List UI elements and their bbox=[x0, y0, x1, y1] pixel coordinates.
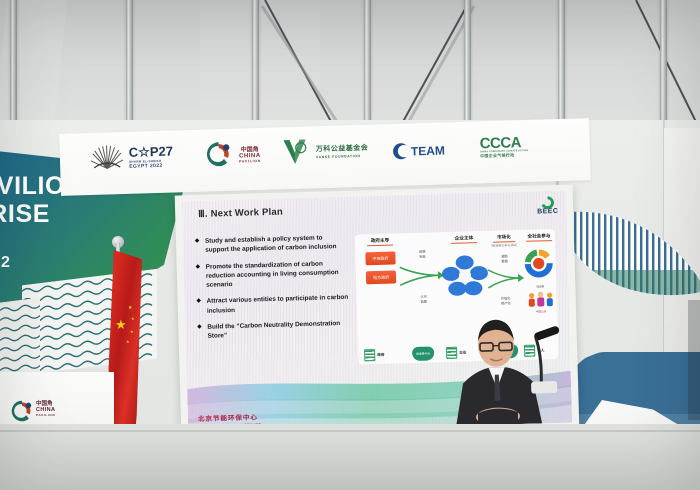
logo-china-pavilion: 中国角 CHINA PAVILION bbox=[204, 139, 261, 169]
podium-logo-cn: 中国角 bbox=[36, 399, 55, 407]
vanke-en: VANKE FOUNDATION bbox=[316, 153, 369, 159]
cop27-sunburst-icon bbox=[89, 142, 124, 175]
podium-china-pavilion-logo: 中国角 CHINA PAVILION bbox=[10, 398, 76, 424]
diagram-column-heading: 全社会参与 bbox=[526, 233, 552, 242]
diagram-mini-label: 数据 bbox=[486, 258, 524, 264]
photo-scene: AVILION PRISE 022 bbox=[0, 0, 700, 490]
china-pavilion-mark-icon bbox=[10, 399, 34, 423]
beec-logo: BEEC bbox=[537, 196, 559, 216]
flag-star-small: ★ bbox=[130, 330, 134, 334]
diamond-bullet-icon: ◆ bbox=[197, 298, 201, 306]
vanke-cn: 万科公益基金会 bbox=[316, 142, 369, 154]
diagram-column-subtext: （碳普惠交易与消纳） bbox=[485, 243, 523, 248]
diagram-box: 中央政府 bbox=[365, 251, 395, 265]
vanke-v-icon bbox=[281, 137, 310, 166]
microphone-icon bbox=[525, 323, 571, 394]
flag-star-small: ★ bbox=[131, 317, 135, 321]
diagram-footer-icon-government: 政府 bbox=[364, 349, 385, 362]
projection-screen: Ⅲ. Next Work Plan ◆ Study and establish … bbox=[175, 184, 580, 439]
diagram-column-heading: 市场化 bbox=[493, 234, 515, 243]
banner-line-3: 022 bbox=[0, 254, 11, 272]
building-icon bbox=[364, 349, 375, 361]
diagram-footer-label: 政府 bbox=[377, 352, 384, 357]
banner-line-2: PRISE bbox=[0, 200, 50, 229]
wave-pattern-panel-small bbox=[0, 298, 40, 383]
flag-star-small: ★ bbox=[128, 306, 132, 311]
dark-wall-edge bbox=[688, 300, 700, 420]
slide-bullet: ◆ Promote the standardization of carbon … bbox=[196, 258, 349, 290]
diamond-bullet-icon: ◆ bbox=[196, 263, 200, 271]
green-arrow-icon bbox=[486, 266, 525, 291]
slide-bullet: ◆ Study and establish a policy system to… bbox=[195, 233, 347, 256]
donut-center-label: 碳普惠 bbox=[522, 284, 558, 289]
logo-cteam: TEAM bbox=[390, 140, 446, 161]
presentation-slide: Ⅲ. Next Work Plan ◆ Study and establish … bbox=[182, 191, 572, 434]
diagram-column-heading: 企业主体 bbox=[451, 235, 477, 244]
slide-bullet-text: Attract various entities to participate … bbox=[207, 294, 349, 314]
logo-cop27: C☆P27 SHARM EL-SHEIKH EGYPT 2022 bbox=[89, 141, 173, 175]
striped-leaf-icon bbox=[556, 196, 700, 304]
flag-star-small: ★ bbox=[126, 340, 130, 344]
slide-bullet-list: ◆ Study and establish a policy system to… bbox=[195, 233, 350, 349]
diamond-bullet-icon: ◆ bbox=[195, 238, 199, 246]
ccca-cn: 中国企业气候行动 bbox=[480, 152, 529, 159]
diagram-footer-icon-platform: 碳普惠平台 bbox=[412, 346, 434, 361]
china-pavilion-mark-icon bbox=[204, 140, 233, 169]
diagram-mini-label: 标准 bbox=[397, 253, 447, 259]
slide-bullet-text: Study and establish a policy system to s… bbox=[205, 234, 337, 254]
ccca-wordmark: CCCA bbox=[479, 135, 528, 151]
slide-footer-cn: 北京节能环保中心 bbox=[198, 411, 261, 423]
cteam-c-icon bbox=[390, 142, 410, 162]
flower-cluster-icon bbox=[441, 253, 488, 298]
cop27-wordmark: C☆P27 bbox=[129, 145, 174, 159]
slide-bullet: ◆ Attract various entities to participat… bbox=[197, 293, 349, 316]
flag-star-large: ★ bbox=[115, 318, 127, 331]
slide-title: Ⅲ. Next Work Plan bbox=[198, 207, 283, 220]
floor bbox=[0, 424, 700, 490]
leaf-stripe-graphic bbox=[556, 196, 700, 304]
slide-bullet: ◆ Build the “Carbon Neutrality Demonstra… bbox=[197, 319, 349, 342]
floor-edge-line bbox=[0, 430, 700, 432]
cop27-sub-2: EGYPT 2022 bbox=[129, 163, 173, 170]
cloud-platform-icon: 碳普惠平台 bbox=[412, 346, 434, 361]
diamond-bullet-icon: ◆ bbox=[197, 324, 201, 332]
microphone bbox=[525, 323, 571, 394]
china-pavilion-cn: 中国角 bbox=[239, 143, 261, 153]
slide-bullet-text: Promote the standardization of carbon re… bbox=[206, 260, 339, 289]
green-arrow-icon bbox=[398, 262, 445, 289]
logo-vanke-foundation: 万科公益基金会 VANKE FOUNDATION bbox=[281, 136, 368, 167]
slide-bullet-text: Build the “Carbon Neutrality Demonstrati… bbox=[207, 320, 340, 340]
podium-logo-en-2: PAVILION bbox=[36, 413, 55, 417]
wave-lines-icon bbox=[0, 298, 40, 383]
diagram-column-heading: 政府主导 bbox=[367, 238, 393, 247]
diagram-box: 地方政府 bbox=[366, 270, 396, 284]
china-pavilion-en-2: PAVILION bbox=[239, 158, 261, 163]
donut-chart-icon bbox=[521, 247, 556, 280]
cteam-wordmark: TEAM bbox=[411, 144, 445, 157]
logo-ccca: CCCA CHINA CORPORATE CLIMATE ACTION 中国企业… bbox=[479, 135, 528, 159]
diagram-mini-label: 监管 bbox=[399, 298, 449, 304]
